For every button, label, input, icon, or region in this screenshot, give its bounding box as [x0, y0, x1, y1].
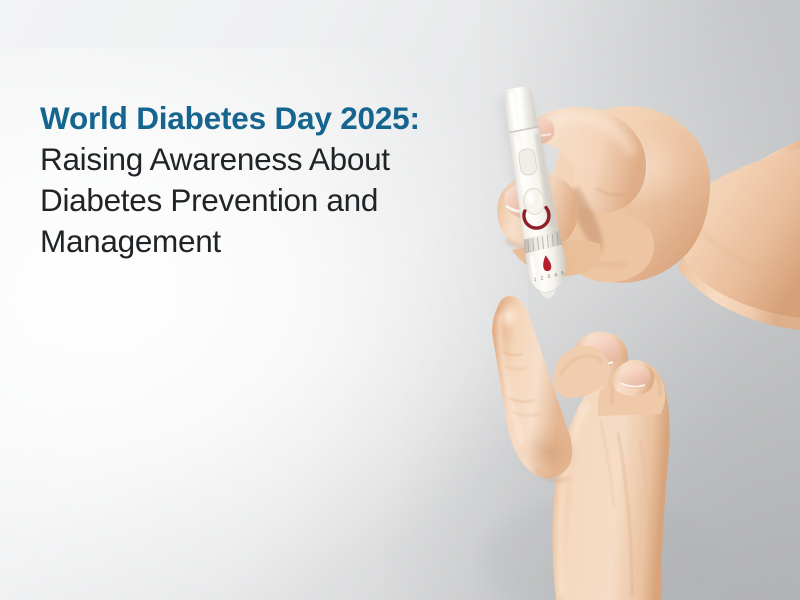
- page-title: World Diabetes Day 2025: Raising Awarene…: [40, 98, 510, 262]
- headline-line-1: World Diabetes Day 2025:: [40, 98, 510, 139]
- headline-line-4: Management: [40, 221, 510, 262]
- headline-line-3: Diabetes Prevention and: [40, 180, 510, 221]
- headline-line-2: Raising Awareness About: [40, 139, 510, 180]
- world-diabetes-day-banner: 1 2 3 4 5 World Diabetes Day 2025: Raisi…: [0, 0, 800, 600]
- background-gradient: [0, 0, 800, 600]
